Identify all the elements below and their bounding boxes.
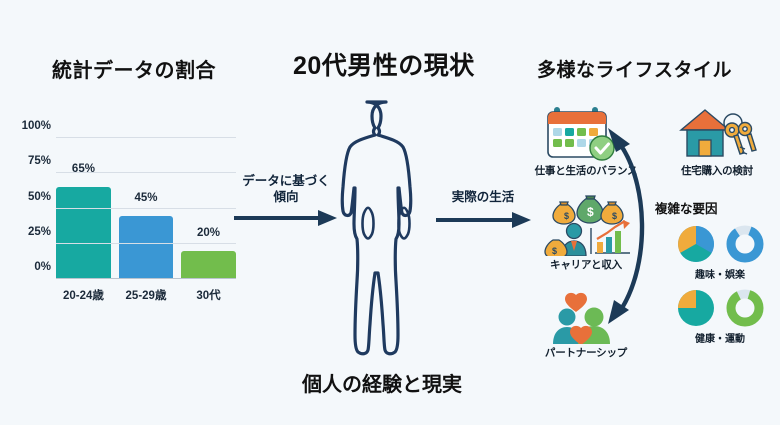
chart-gridline xyxy=(56,208,236,209)
lifestyle-caption: パートナーシップ xyxy=(524,345,648,360)
chart-gridline xyxy=(56,137,236,138)
left-arrow-label: データに基づく 傾向 xyxy=(236,174,336,205)
chart-bar[interactable] xyxy=(181,251,236,279)
chart-bars: 65%45%20% xyxy=(56,138,236,279)
left-section-title: 統計データの割合 xyxy=(52,54,216,83)
lifestyle-item-house-purchase[interactable]: 住宅購入の検討 xyxy=(655,104,779,178)
chart-y-tick-label: 75% xyxy=(28,155,51,167)
factors-caption: 健康・運動 xyxy=(660,330,780,345)
bottom-caption: 個人の経験と現実 xyxy=(302,368,462,397)
chart-x-tick-label: 30代 xyxy=(181,287,236,307)
pie-chart-health-icon xyxy=(676,288,716,328)
lifestyle-caption: 住宅購入の検討 xyxy=(655,163,779,178)
pie-chart-hobby-icon xyxy=(676,224,716,264)
chart-bar-value-label: 45% xyxy=(119,192,174,204)
chart-bar[interactable] xyxy=(56,187,111,279)
right-arrow-label: 実際の生活 xyxy=(437,190,529,206)
donut-chart-hobby-icon xyxy=(725,224,765,264)
right-section-title: 多様なライフスタイル xyxy=(537,55,732,82)
house-keys-icon xyxy=(675,104,759,162)
chart-bar-group[interactable]: 45% xyxy=(119,138,174,279)
chart-bar[interactable] xyxy=(119,216,174,279)
chart-bar-value-label: 20% xyxy=(181,227,236,239)
center-section-title: 20代男性の現状 xyxy=(293,46,475,82)
infographic-canvas: 統計データの割合 65%45%20% 0%25%50%75%100% 20-24… xyxy=(0,0,780,425)
male-body-silhouette-icon xyxy=(334,98,438,356)
right-arrow-icon xyxy=(436,210,532,230)
chart-y-tick-label: 100% xyxy=(22,120,51,132)
left-arrow-icon xyxy=(234,208,338,228)
chart-y-tick-label: 0% xyxy=(34,261,51,273)
chart-y-tick-label: 25% xyxy=(28,226,51,238)
svg-text:$: $ xyxy=(552,246,557,256)
right-arrow-label-line1: 実際の生活 xyxy=(452,190,515,204)
left-arrow-label-line2: 傾向 xyxy=(273,190,298,204)
chart-x-tick-label: 25-29歳 xyxy=(119,287,174,307)
bar-chart: 65%45%20% 0%25%50%75%100% 20-24歳25-29歳30… xyxy=(14,130,244,315)
chart-gridline xyxy=(56,172,236,173)
chart-plot-area: 65%45%20% 0%25%50%75%100% xyxy=(56,138,236,279)
svg-text:$: $ xyxy=(587,205,594,219)
chart-x-tick-label: 20-24歳 xyxy=(56,287,111,307)
factors-row-hobby: 趣味・娯楽 xyxy=(660,224,780,281)
chart-bar-group[interactable]: 20% xyxy=(181,138,236,279)
double-headed-curved-arrow-icon xyxy=(604,122,660,332)
chart-y-tick-label: 50% xyxy=(28,191,51,203)
chart-gridline xyxy=(56,243,236,244)
factors-caption: 趣味・娯楽 xyxy=(660,266,780,281)
chart-bar-value-label: 65% xyxy=(56,163,111,175)
factors-row-health: 健康・運動 xyxy=(660,288,780,345)
chart-axis-line xyxy=(56,278,236,280)
svg-text:$: $ xyxy=(564,211,569,221)
chart-x-axis-labels: 20-24歳25-29歳30代 xyxy=(56,287,236,307)
factors-title: 複雑な要因 xyxy=(655,198,718,217)
chart-bar-group[interactable]: 65% xyxy=(56,138,111,279)
donut-chart-health-icon xyxy=(725,288,765,328)
left-arrow-label-line1: データに基づく xyxy=(242,174,330,188)
